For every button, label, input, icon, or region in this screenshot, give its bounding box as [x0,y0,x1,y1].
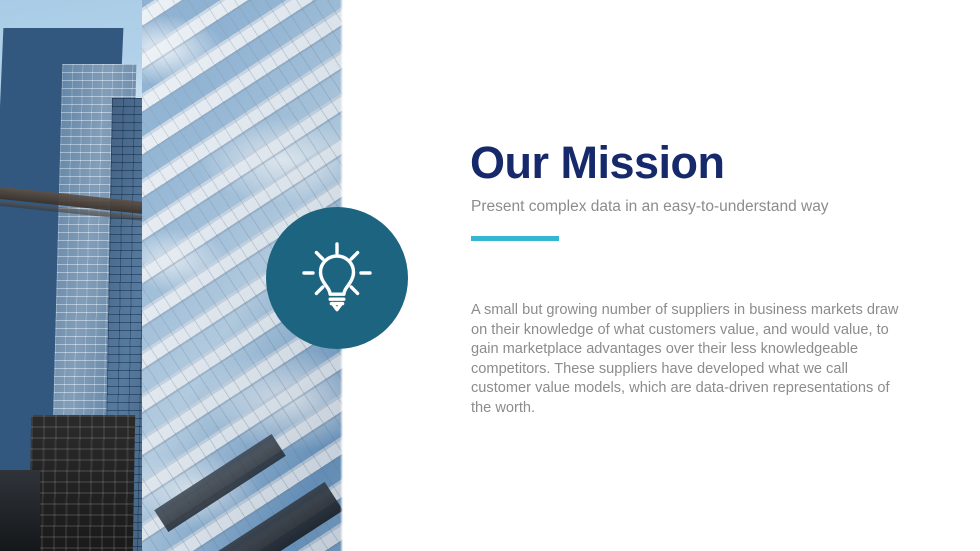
accent-rule [471,236,559,241]
slide: Our Mission Present complex data in an e… [0,0,980,551]
page-title: Our Mission [470,140,725,185]
content-column: Our Mission Present complex data in an e… [470,0,940,551]
page-subtitle: Present complex data in an easy-to-under… [471,197,829,217]
lightbulb-icon [300,241,374,315]
body-paragraph: A small but growing number of suppliers … [471,301,905,419]
lightbulb-icon-badge [266,207,408,349]
dark-midrise-building [29,415,135,551]
dark-building-foreground [0,470,40,551]
